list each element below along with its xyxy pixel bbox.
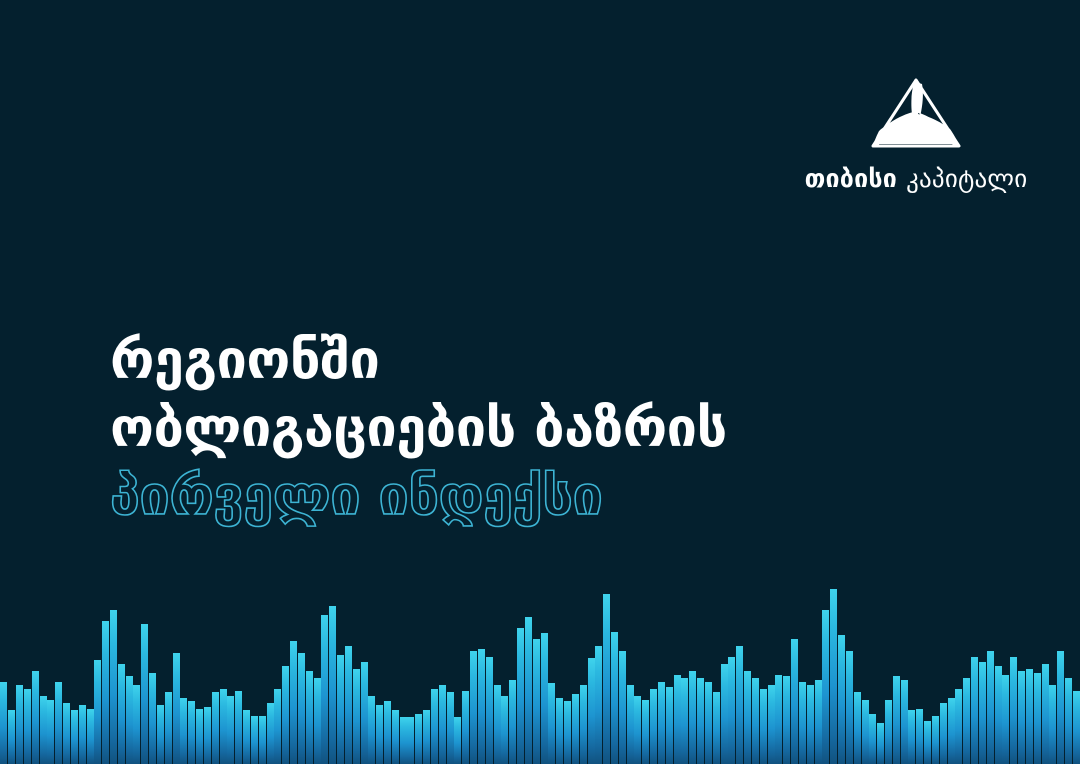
chart-bar [258,585,266,764]
chart-bar-fill [744,671,751,764]
chart-bar-fill [822,610,829,764]
chart-bar [211,585,219,764]
chart-bar [618,585,626,764]
chart-bar [352,585,360,764]
chart-bar [454,585,462,764]
chart-bar [658,585,666,764]
chart-bar-fill [768,685,775,764]
chart-bar [180,585,188,764]
chart-bar [1065,585,1073,764]
chart-bar [78,585,86,764]
chart-bar [971,585,979,764]
chart-bar-fill [384,701,391,764]
chart-bar-fill [267,703,274,764]
chart-bar [31,585,39,764]
chart-bar [1018,585,1026,764]
chart-bar-fill [126,676,133,764]
chart-bar [266,585,274,764]
chart-bar [524,585,532,764]
chart-bar-fill [995,666,1002,764]
chart-bar-fill [697,678,704,764]
chart-bar-fill [501,696,508,764]
chart-bar [517,585,525,764]
chart-bar [705,585,713,764]
chart-bar [885,585,893,764]
chart-bar-fill [274,689,281,764]
chart-bar-fill [329,606,336,764]
chart-bar-fill [353,669,360,764]
chart-bar [892,585,900,764]
chart-bar-fill [1018,671,1025,764]
chart-bar [305,585,313,764]
chart-bar-fill [188,701,195,764]
chart-bar-fill [901,680,908,764]
chart-bar [1002,585,1010,764]
chart-bar [532,585,540,764]
chart-bar-fill [470,651,477,764]
chart-bar-fill [517,628,524,764]
chart-bar [493,585,501,764]
chart-bar [697,585,705,764]
chart-bar [8,585,16,764]
chart-bar [759,585,767,764]
chart-bar [744,585,752,764]
chart-bar [603,585,611,764]
chart-bar-fill [721,664,728,764]
chart-bar [673,585,681,764]
chart-bar [548,585,556,764]
chart-bar-fill [541,633,548,764]
chart-bar-fill [1049,685,1056,764]
chart-bar [243,585,251,764]
chart-bar-fill [908,710,915,764]
chart-bar [157,585,165,764]
chart-bar-fill [196,709,203,764]
chart-bar-fill [376,705,383,764]
chart-bar-fill [603,594,610,764]
chart-bar-fill [799,682,806,764]
chart-bar-fill [165,692,172,764]
chart-bar-fill [0,682,7,764]
chart-bar-fill [525,617,532,764]
chart-bar [634,585,642,764]
chart-bar [838,585,846,764]
chart-bar-fill [1010,657,1017,764]
chart-bar-fill [102,621,109,764]
chart-bar-fill [791,639,798,764]
chart-bar [360,585,368,764]
chart-bar [55,585,63,764]
chart-bar [845,585,853,764]
chart-bar [752,585,760,764]
chart-bar [478,585,486,764]
chart-bar-fill [705,682,712,764]
chart-bar-fill [885,700,892,764]
chart-bar [384,585,392,764]
chart-bar-fill [16,685,23,764]
chart-bar-fill [431,689,438,764]
chart-bar-fill [361,662,368,764]
chart-bar [63,585,71,764]
chart-bar [399,585,407,764]
chart-bar [438,585,446,764]
chart-bar [830,585,838,764]
chart-bar-fill [979,662,986,764]
chart-bar-fill [118,664,125,764]
chart-bar [579,585,587,764]
chart-bar-fill [948,698,955,764]
chart-bar [282,585,290,764]
chart-bar-fill [509,680,516,764]
chart-bar [344,585,352,764]
chart-bar [595,585,603,764]
chart-bar [446,585,454,764]
chart-bar-fill [298,653,305,764]
chart-bar-fill [916,709,923,764]
chart-bar [916,585,924,764]
chart-bar [540,585,548,764]
chart-bar-fill [1034,673,1041,764]
chart-bar [650,585,658,764]
chart-bar [337,585,345,764]
chart-bar [736,585,744,764]
chart-bar-fill [173,653,180,764]
chart-bar-fill [1042,664,1049,764]
chart-bar [94,585,102,764]
chart-bar [470,585,478,764]
chart-bar [141,585,149,764]
chart-bar [501,585,509,764]
chart-bar [681,585,689,764]
chart-bar [1049,585,1057,764]
chart-bar-fill [337,655,344,764]
chart-bar-fill [627,685,634,764]
chart-bar-fill [877,723,884,764]
chart-bar [290,585,298,764]
chart-bar [274,585,282,764]
chart-bar-fill [212,692,219,764]
chart-bar [986,585,994,764]
chart-bar-fill [815,680,822,764]
chart-bar-fill [807,685,814,764]
chart-bar-fill [846,651,853,764]
chart-bar [963,585,971,764]
chart-bar [783,585,791,764]
chart-bar [877,585,885,764]
chart-bar [485,585,493,764]
chart-bar-fill [415,714,422,764]
chart-bar [117,585,125,764]
chart-bar [431,585,439,764]
headline-line-3: პირველი ინდექსი [110,462,930,530]
chart-bar [908,585,916,764]
chart-bar [47,585,55,764]
chart-bar [955,585,963,764]
chart-bar-fill [588,658,595,764]
chart-bar [313,585,321,764]
chart-bar-fill [634,696,641,764]
chart-bar [407,585,415,764]
presentation-cover-slide: თიბისიკაპიტალი რეგიონში ობლიგაციების ბაზ… [0,0,1080,764]
chart-bar-fill [595,646,602,764]
chart-bar-fill [987,651,994,764]
chart-bar-fill [572,694,579,764]
chart-bar-fill [462,691,469,764]
chart-bar-fill [658,682,665,764]
headline-line-1: რეგიონში [110,326,930,394]
chart-bar-fill [407,717,414,764]
chart-bar-fill [243,710,250,764]
chart-bar-fill [713,692,720,764]
chart-bar [188,585,196,764]
waveform-bar-chart [0,585,1080,764]
chart-bar [822,585,830,764]
chart-bar-fill [55,682,62,764]
chart-bar [587,585,595,764]
chart-bar-fill [251,716,258,764]
chart-bar-fill [345,646,352,764]
chart-bar [775,585,783,764]
chart-bar [423,585,431,764]
chart-bar-fill [963,678,970,764]
chart-bar-fill [838,635,845,764]
chart-bar-fill [775,675,782,764]
chart-bar-fill [227,696,234,764]
chart-bar [611,585,619,764]
chart-bar [102,585,110,764]
chart-bar-fill [24,689,31,764]
chart-bar-fill [423,710,430,764]
logo-wordmark: თიბისიკაპიტალი [805,166,1028,191]
chart-bar [947,585,955,764]
chart-bar-fill [862,700,869,764]
chart-bar [23,585,31,764]
chart-bar [329,585,337,764]
chart-bar [806,585,814,764]
chart-bar-fill [235,691,242,764]
chart-bar-fill [321,615,328,764]
chart-bar [462,585,470,764]
chart-bar-fill [47,700,54,764]
tbc-capital-triangle-logo-icon [870,78,962,150]
headline-line-2: ობლიგაციების ბაზრის [110,394,930,462]
chart-bar-fill [728,657,735,764]
chart-bar-fill [548,683,555,764]
chart-bar [133,585,141,764]
chart-bar-fill [478,649,485,764]
chart-bar-fill [783,676,790,764]
chart-bar-fill [752,678,759,764]
chart-bar [110,585,118,764]
chart-bar [626,585,634,764]
logo-wordmark-light: კაპიტალი [906,164,1027,193]
chart-bar [979,585,987,764]
chart-bar [642,585,650,764]
chart-bar [16,585,24,764]
chart-bar-fill [760,689,767,764]
chart-bar-fill [259,716,266,764]
chart-bar-fill [392,710,399,764]
chart-bar [939,585,947,764]
chart-bar-fill [157,705,164,764]
chart-bar-fill [940,703,947,764]
chart-bar-fill [666,687,673,764]
chart-bar [297,585,305,764]
chart-bar-fill [689,671,696,764]
chart-bar-fill [63,703,70,764]
chart-bar-fill [971,657,978,764]
chart-bar [869,585,877,764]
chart-bar [564,585,572,764]
chart-bar [196,585,204,764]
chart-bar-fill [642,700,649,764]
chart-bar [853,585,861,764]
chart-bar [1072,585,1080,764]
chart-bar [924,585,932,764]
chart-bar-fill [141,624,148,764]
chart-bar [861,585,869,764]
brand-logo: თიბისიკაპიტალი [796,78,1036,191]
chart-bar [204,585,212,764]
chart-bar [1010,585,1018,764]
chart-bar-fill [40,696,47,764]
chart-bar-fill [454,717,461,764]
chart-bar-fill [32,671,39,764]
chart-bar-fill [1002,675,1009,764]
chart-bar [70,585,78,764]
chart-bar [125,585,133,764]
chart-bar-fill [1065,678,1072,764]
chart-bar [556,585,564,764]
chart-bar-fill [830,589,837,764]
chart-bar-fill [564,701,571,764]
chart-bar-fill [1026,669,1033,764]
chart-bar-fill [580,685,587,764]
chart-bar [932,585,940,764]
chart-bar-fill [924,721,931,764]
chart-bar [509,585,517,764]
chart-bar [172,585,180,764]
chart-bar [219,585,227,764]
chart-bar-fill [533,639,540,764]
chart-bar [728,585,736,764]
headline-block: რეგიონში ობლიგაციების ბაზრის პირველი ინდ… [110,326,930,530]
chart-bar [415,585,423,764]
chart-bar-fill [494,685,501,764]
chart-bar-fill [1057,651,1064,764]
chart-bar [368,585,376,764]
chart-bar-fill [149,673,156,764]
logo-wordmark-bold: თიბისი [805,164,897,193]
chart-bar-fill [220,689,227,764]
chart-bar-fill [71,710,78,764]
chart-bar-fill [204,707,211,764]
chart-bar [39,585,47,764]
chart-bar [814,585,822,764]
chart-bar-fill [180,698,187,764]
chart-bar [0,585,8,764]
chart-bar-fill [893,676,900,764]
chart-bar [900,585,908,764]
chart-bar-fill [133,685,140,764]
chart-bar [149,585,157,764]
chart-bar-fill [955,689,962,764]
chart-bar [798,585,806,764]
chart-bar [767,585,775,764]
chart-bar-fill [611,632,618,764]
chart-bar [689,585,697,764]
chart-bar-fill [869,714,876,764]
chart-bar [1033,585,1041,764]
chart-bar [571,585,579,764]
chart-bar [164,585,172,764]
chart-bar-fill [1073,691,1080,764]
chart-bar-fill [736,646,743,764]
chart-bar-fill [306,671,313,764]
chart-bar-fill [110,610,117,764]
chart-bar-fill [650,689,657,764]
chart-bar-fill [87,709,94,764]
chart-bar-fill [314,678,321,764]
chart-bar-fill [94,660,101,764]
chart-bar [1057,585,1065,764]
chart-bar-fill [8,710,15,764]
chart-bar [251,585,259,764]
chart-bar-fill [556,698,563,764]
chart-bar-fill [932,716,939,764]
chart-bar [1041,585,1049,764]
chart-bar-fill [290,641,297,764]
chart-bar [994,585,1002,764]
chart-bar-fill [282,666,289,764]
chart-bar [86,585,94,764]
chart-bar [391,585,399,764]
chart-bar-fill [619,651,626,764]
chart-bar [1025,585,1033,764]
chart-bar-fill [854,692,861,764]
chart-bar [720,585,728,764]
chart-bar-fill [486,657,493,764]
chart-bar-fill [674,675,681,764]
chart-bar [712,585,720,764]
chart-bar-fill [400,717,407,764]
chart-bar [791,585,799,764]
chart-bar-fill [439,685,446,764]
chart-bar-fill [681,678,688,764]
chart-bar [665,585,673,764]
chart-bar-fill [447,692,454,764]
chart-bar [227,585,235,764]
chart-bar [376,585,384,764]
chart-bar-fill [368,696,375,764]
chart-bar [235,585,243,764]
chart-bar-fill [79,705,86,764]
chart-bar [321,585,329,764]
